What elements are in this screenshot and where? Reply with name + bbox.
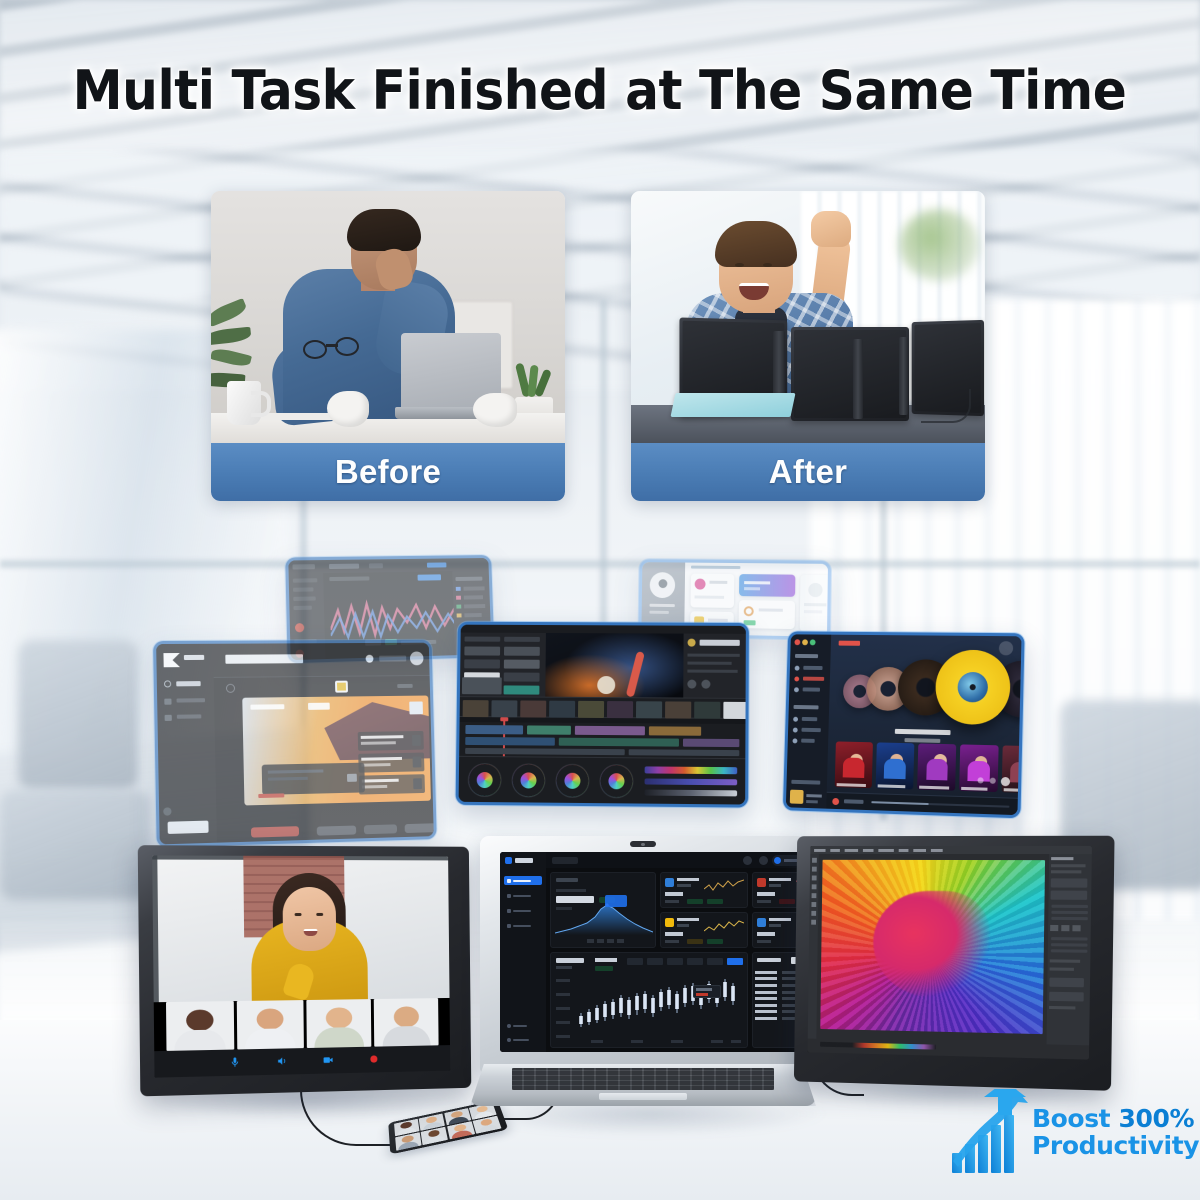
nav-label [177, 714, 201, 718]
brand-logo-icon [505, 857, 512, 864]
dashboard-topbar [546, 852, 806, 868]
album-vinyl-active[interactable] [935, 650, 1011, 726]
design-app-canvas [214, 676, 434, 843]
dashboard-card[interactable] [690, 574, 734, 608]
footer-chip[interactable] [317, 826, 357, 836]
sat-curve-strip[interactable] [645, 778, 738, 785]
photo-editor-toolbar[interactable] [808, 854, 819, 1039]
video-editor-media-strip [460, 696, 746, 718]
project-card-tag [258, 793, 284, 798]
photo-editor-menubar[interactable] [810, 846, 1092, 854]
footer-chip[interactable] [405, 823, 434, 833]
balance-card[interactable] [550, 872, 656, 948]
project-card-badge [308, 703, 330, 710]
before-photo [211, 191, 565, 443]
notification-icon[interactable] [366, 655, 374, 663]
floating-screen-video-editor[interactable] [456, 622, 749, 808]
music-app-main [826, 635, 1021, 815]
candle-price [595, 958, 617, 962]
microphone-icon[interactable] [229, 1057, 240, 1068]
section-title [839, 641, 860, 646]
camera-icon[interactable] [323, 1055, 334, 1066]
product-banner: Multi Task Finished at The Same Time [0, 0, 1200, 1200]
create-button[interactable] [168, 821, 209, 834]
before-mug [227, 381, 261, 425]
photo-editor-canvas[interactable] [820, 860, 1045, 1034]
sidebar-item-help[interactable] [504, 1021, 542, 1030]
album-thumbnail[interactable] [876, 742, 915, 789]
nav-label [177, 698, 206, 702]
now-playing-title [895, 729, 951, 735]
sidebar-item-logout[interactable] [504, 1035, 542, 1044]
timeframe-1w[interactable] [667, 958, 683, 965]
portable-monitor-right[interactable] [794, 836, 1115, 1091]
after-eye [763, 263, 772, 267]
user-name [379, 656, 406, 662]
before-label: Before [211, 443, 565, 501]
search-icon[interactable] [743, 856, 752, 865]
orderbook-title [757, 958, 781, 962]
photo-editor-screen[interactable] [808, 846, 1092, 1060]
color-wheel-offset[interactable] [600, 765, 632, 797]
search-icon[interactable] [226, 684, 235, 693]
project-card-action[interactable] [409, 701, 423, 714]
photo-editor-panels[interactable] [1047, 854, 1092, 1045]
timeframe-1y[interactable] [627, 958, 643, 965]
participant-tile[interactable] [374, 998, 439, 1046]
window-rail [0, 560, 1200, 568]
after-card: After [631, 191, 985, 501]
profile-icon[interactable] [999, 641, 1014, 655]
before-crumpled-paper [327, 391, 369, 427]
after-cable [921, 389, 971, 423]
footer-chip[interactable] [251, 826, 299, 837]
projects-icon [164, 680, 171, 687]
project-card-title [250, 704, 284, 709]
design-app-content [156, 643, 434, 845]
after-monitor-hinge [853, 339, 863, 419]
video-call-main-speaker[interactable] [152, 855, 449, 1002]
headline-wrap: Multi Task Finished at The Same Time [0, 62, 1200, 120]
laptop-lid [480, 836, 806, 1072]
selection-handle[interactable] [335, 681, 348, 693]
album-thumbnail[interactable] [835, 741, 873, 788]
portable-monitor-left[interactable] [138, 845, 472, 1096]
sidebar-item-wallet[interactable] [504, 921, 542, 930]
design-app-sidebar[interactable] [156, 644, 217, 845]
after-eye [735, 263, 744, 267]
dashboard-card-highlight[interactable] [739, 574, 795, 597]
balance-card-title [556, 878, 578, 882]
music-app-content [786, 634, 1022, 815]
trading-dashboard-screen[interactable] [500, 852, 806, 1052]
color-swatch-strip[interactable] [820, 1042, 936, 1050]
laptop-keyboard[interactable] [512, 1068, 775, 1090]
floating-screen-design-app[interactable] [153, 640, 437, 848]
background-chair [0, 790, 150, 900]
album-thumbnail[interactable] [917, 743, 956, 790]
before-card: Before [211, 191, 565, 501]
background-chair [18, 640, 138, 790]
timeframe-1h[interactable] [727, 958, 743, 965]
candle-subtext [556, 966, 572, 969]
album-thumbnail[interactable] [959, 744, 999, 792]
project-list-item[interactable] [358, 753, 424, 773]
participant-thumbnails [166, 998, 439, 1051]
color-wheel-gamma[interactable] [512, 764, 544, 796]
sidebar-item-transactions[interactable] [504, 891, 542, 900]
video-editor-timeline[interactable] [459, 716, 745, 758]
avatar[interactable] [163, 807, 171, 815]
coin-sparkline [704, 917, 744, 935]
coin-card[interactable] [660, 872, 748, 908]
header-tab[interactable] [552, 857, 578, 864]
coin-sparkline [704, 877, 744, 895]
boost-line-2: Productivity [1032, 1133, 1199, 1158]
laptop-trackpad[interactable] [599, 1093, 687, 1100]
before-label-text: Before [335, 453, 441, 491]
project-list-item[interactable] [359, 774, 425, 794]
design-app-logo-text [184, 655, 204, 660]
project-card[interactable] [242, 696, 431, 806]
chart-tooltip [605, 895, 627, 907]
after-monitor-hinge [899, 337, 908, 415]
before-crumpled-paper [473, 393, 517, 427]
timeframe-4h[interactable] [707, 958, 723, 965]
footer-chip[interactable] [364, 824, 397, 834]
candle-pair-label [556, 958, 584, 963]
coin-card[interactable] [660, 912, 748, 948]
main-speaker-avatar [249, 873, 368, 1001]
boost-line-1: Boost 300% [1032, 1106, 1199, 1131]
participant-tile[interactable] [306, 999, 372, 1048]
hue-curve-strip[interactable] [645, 766, 738, 774]
boost-prefix: Boost [1032, 1104, 1119, 1133]
after-fist [811, 211, 851, 247]
greeting-text [225, 654, 303, 664]
nav-icon [164, 699, 171, 705]
design-app-logo-icon [163, 653, 180, 667]
toolbar-item[interactable] [397, 684, 412, 688]
now-playing-artist [904, 738, 940, 743]
color-wheel-gain[interactable] [556, 765, 588, 797]
sidebar-item-markets[interactable] [504, 906, 542, 915]
video-call-screen[interactable] [152, 855, 450, 1077]
dashboard-sidebar[interactable] [500, 852, 546, 1052]
after-label-text: After [769, 453, 848, 491]
design-app-topbar [213, 643, 430, 678]
notification-icon[interactable] [759, 856, 768, 865]
page-title: Multi Task Finished at The Same Time [73, 62, 1127, 120]
color-wheel-lift[interactable] [469, 764, 501, 796]
lum-curve-strip[interactable] [644, 790, 737, 797]
webcam-icon [630, 841, 656, 847]
speaker-icon[interactable] [276, 1056, 287, 1067]
video-editor-color-panel[interactable] [459, 756, 746, 805]
after-notebook [670, 393, 795, 417]
sidebar-item-home[interactable] [504, 876, 542, 885]
participant-tile[interactable] [237, 1000, 304, 1049]
trading-dashboard [500, 852, 806, 1052]
project-list-item[interactable] [358, 731, 424, 751]
video-editor-content [459, 625, 746, 805]
nav-label-projects [176, 681, 200, 686]
dashboard-card[interactable] [739, 600, 795, 629]
bar-chart-up-arrow-icon [950, 1089, 1028, 1175]
candle-tooltip [693, 985, 721, 998]
before-eyeglasses [303, 337, 363, 363]
timeframe-1d[interactable] [687, 958, 703, 965]
dashboard-body [546, 868, 806, 1052]
floating-screen-music-app[interactable] [783, 631, 1025, 818]
laptop[interactable] [470, 836, 816, 1118]
music-app-sidebar[interactable] [786, 634, 831, 808]
record-icon[interactable] [368, 1054, 379, 1065]
after-monitor-center [791, 327, 909, 421]
photo-editor [808, 846, 1092, 1060]
laptop-base [470, 1064, 816, 1106]
after-photo [631, 191, 985, 443]
after-label: After [631, 443, 985, 501]
boost-text: Boost 300% Productivity [1032, 1106, 1199, 1158]
after-foliage [899, 209, 979, 281]
participant-tile[interactable] [166, 1001, 234, 1051]
boost-number: 300% [1119, 1104, 1195, 1133]
nav-icon [165, 715, 172, 721]
dashboard-side-panel[interactable] [800, 575, 828, 632]
brand-name [515, 858, 533, 863]
before-hair [347, 209, 421, 251]
project-card-console [262, 763, 365, 795]
avatar[interactable] [410, 652, 424, 666]
balance-area-chart [555, 899, 653, 935]
timeframe-1m[interactable] [647, 958, 663, 965]
boost-productivity-badge: Boost 300% Productivity [950, 1082, 1188, 1182]
candlestick-card[interactable] [550, 952, 748, 1048]
candle-change-badge [595, 966, 613, 971]
balance-label [556, 889, 586, 892]
